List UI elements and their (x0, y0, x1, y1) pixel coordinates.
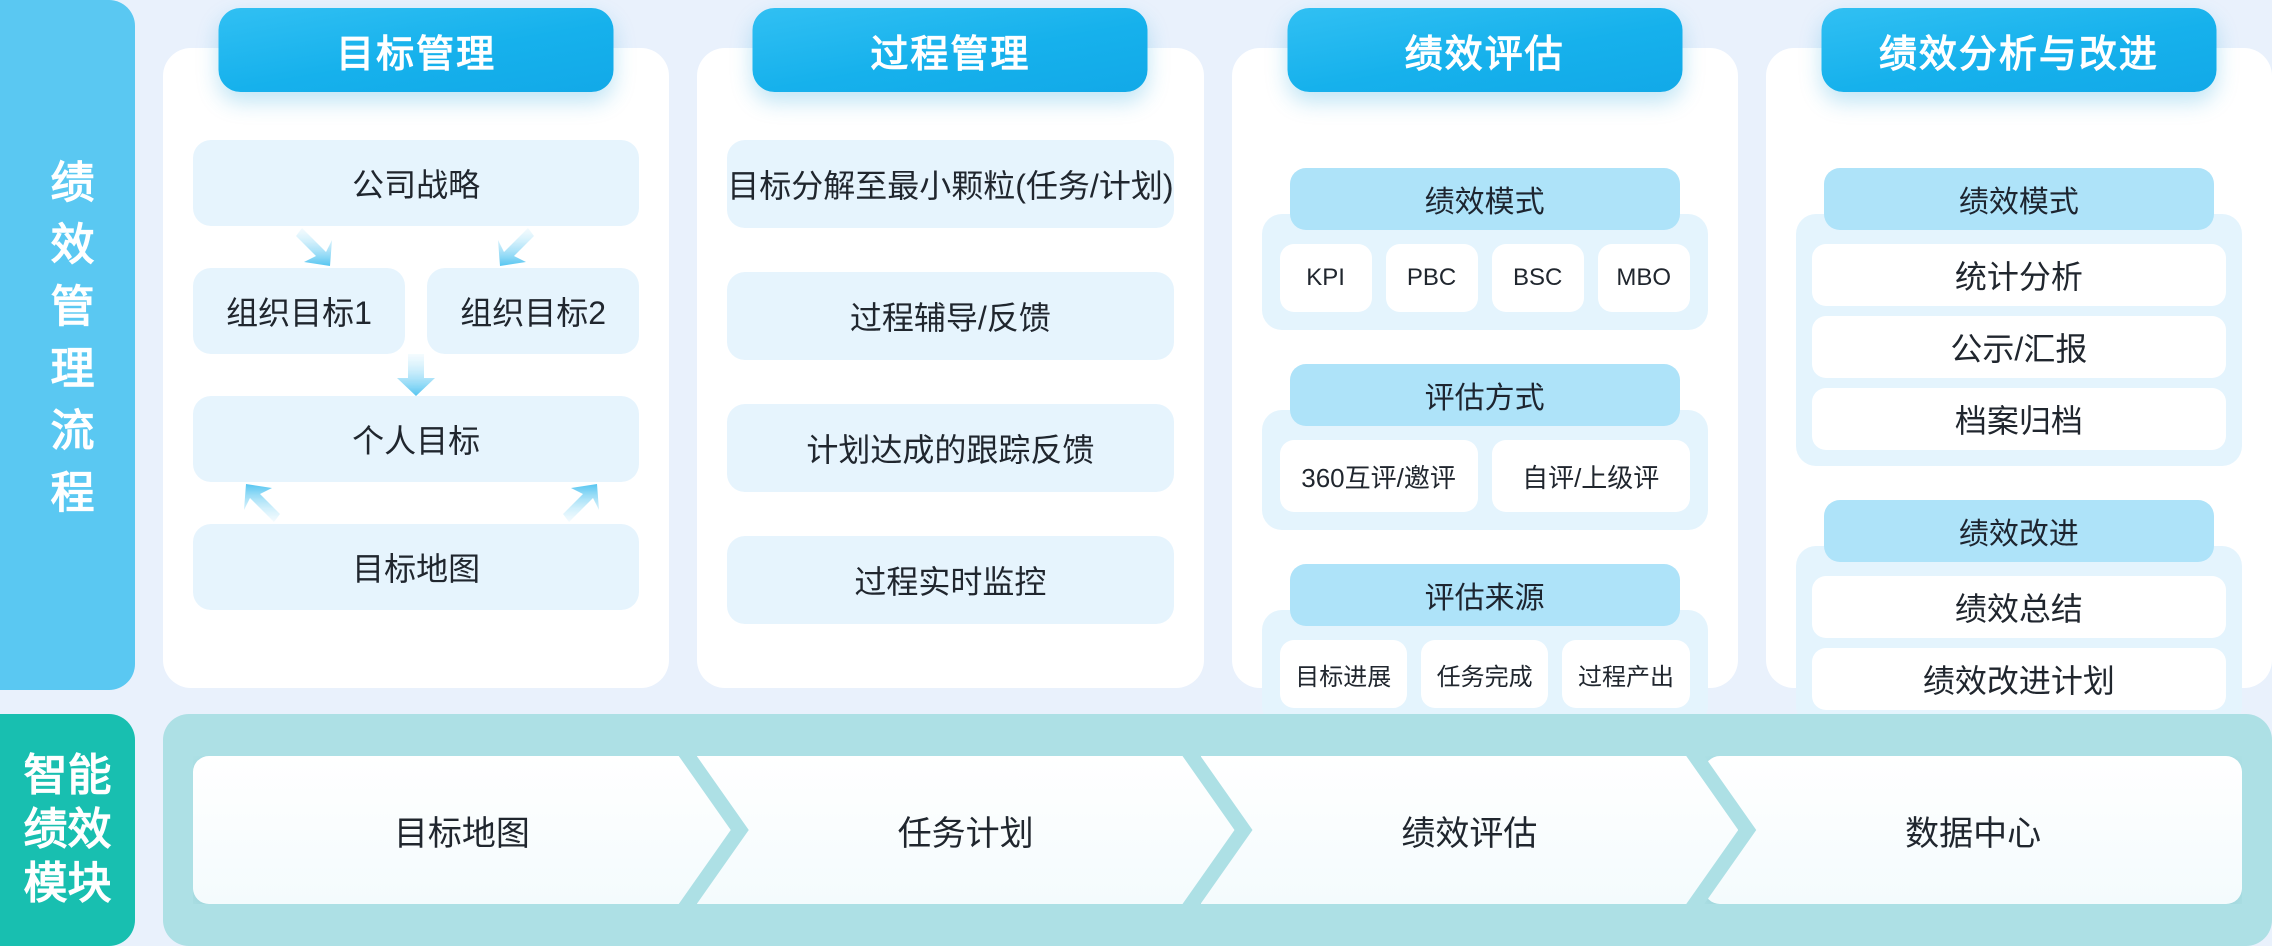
node-company-strategy[interactable]: 公司战略 (193, 140, 639, 226)
stage-title-goal-management: 目标管理 (219, 8, 614, 92)
list-item[interactable]: 任务完成 (1421, 640, 1548, 708)
group-performance-mode: 绩效模式 KPI PBC BSC MBO (1262, 168, 1708, 330)
process-item-list: 目标分解至最小颗粒(任务/计划) 过程辅导/反馈 计划达成的跟踪反馈 过程实时监… (727, 134, 1173, 624)
performance-process-section: 绩效管理流程 目标管理 公司战略 (0, 0, 2272, 690)
flow-step-label: 绩效评估 (1401, 806, 1537, 855)
stage-title-performance-analysis: 绩效分析与改进 (1821, 8, 2216, 92)
list-item[interactable]: 过程产出 (1562, 640, 1689, 708)
group-items: 目标进展 任务完成 过程产出 (1262, 610, 1708, 726)
org-goal-row: 组织目标1 组织目标2 (193, 268, 639, 354)
smart-performance-module-section: 智能 绩效 模块 目标地图 任务计划 绩效评估 数据中心 (0, 714, 2272, 946)
stage-title-performance-evaluation: 绩效评估 (1287, 8, 1682, 92)
list-item[interactable]: KPI (1280, 244, 1372, 312)
goal-flow: 公司战略 (193, 134, 639, 610)
list-item[interactable]: 绩效改进计划 (1812, 648, 2226, 710)
group-title: 评估方式 (1290, 364, 1680, 426)
flow-step-label: 任务计划 (898, 806, 1034, 855)
label-line: 绩效 (24, 803, 112, 857)
list-item[interactable]: 过程实时监控 (727, 536, 1173, 624)
list-item[interactable]: PBC (1386, 244, 1478, 312)
stage-column-process-management[interactable]: 过程管理 目标分解至最小颗粒(任务/计划) 过程辅导/反馈 计划达成的跟踪反馈 … (697, 48, 1203, 688)
group-evaluation-source: 评估来源 目标进展 任务完成 过程产出 (1262, 564, 1708, 726)
group-title: 绩效模式 (1290, 168, 1680, 230)
flow-step-label: 数据中心 (1905, 806, 2041, 855)
list-item[interactable]: 目标分解至最小颗粒(任务/计划) (727, 140, 1173, 228)
list-item[interactable]: 目标进展 (1280, 640, 1407, 708)
arrow-down-icon (397, 354, 435, 396)
group-performance-improvement: 绩效改进 绩效总结 绩效改进计划 (1796, 500, 2242, 726)
group-performance-mode-analysis: 绩效模式 统计分析 公示/汇报 档案归档 (1796, 168, 2242, 466)
arrow-row-merge (193, 354, 639, 396)
stage-column-goal-management[interactable]: 目标管理 公司战略 (163, 48, 669, 688)
group-items: 360互评/邀评 自评/上级评 (1262, 410, 1708, 530)
group-title: 绩效模式 (1824, 168, 2214, 230)
stage-columns: 目标管理 公司战略 (135, 0, 2272, 690)
section-label-smart-module: 智能 绩效 模块 (0, 714, 135, 946)
list-item[interactable]: 360互评/邀评 (1280, 440, 1478, 512)
node-org-goal-2[interactable]: 组织目标2 (427, 268, 639, 354)
node-org-goal-1[interactable]: 组织目标1 (193, 268, 405, 354)
module-flow-bar: 目标地图 任务计划 绩效评估 数据中心 (163, 714, 2272, 946)
list-item[interactable]: 过程辅导/反馈 (727, 272, 1173, 360)
list-item[interactable]: 计划达成的跟踪反馈 (727, 404, 1173, 492)
flow-step-label: 目标地图 (394, 806, 530, 855)
arrow-down-left-icon (296, 226, 334, 268)
flow-step-goal-map[interactable]: 目标地图 (193, 756, 731, 904)
label-line: 智能 (24, 749, 112, 803)
stage-column-performance-analysis[interactable]: 绩效分析与改进 绩效模式 统计分析 公示/汇报 档案归档 绩效改进 绩效总结 绩… (1766, 48, 2272, 688)
list-item[interactable]: 统计分析 (1812, 244, 2226, 306)
stage-title-process-management: 过程管理 (753, 8, 1148, 92)
node-personal-goal[interactable]: 个人目标 (193, 396, 639, 482)
list-item[interactable]: 绩效总结 (1812, 576, 2226, 638)
list-item[interactable]: BSC (1492, 244, 1584, 312)
group-evaluation-method: 评估方式 360互评/邀评 自评/上级评 (1262, 364, 1708, 530)
group-title: 绩效改进 (1824, 500, 2214, 562)
stage-column-performance-evaluation[interactable]: 绩效评估 绩效模式 KPI PBC BSC MBO 评估方式 360互评/邀评 … (1232, 48, 1738, 688)
arrow-up-right-icon (242, 482, 280, 524)
list-item[interactable]: 公示/汇报 (1812, 316, 2226, 378)
node-goal-map[interactable]: 目标地图 (193, 524, 639, 610)
group-title: 评估来源 (1290, 564, 1680, 626)
flow-step-data-center[interactable]: 数据中心 (1704, 756, 2242, 904)
arrow-down-right-icon (496, 226, 534, 268)
group-items: KPI PBC BSC MBO (1262, 214, 1708, 330)
group-items: 绩效总结 绩效改进计划 (1796, 546, 2242, 726)
list-item[interactable]: 自评/上级评 (1492, 440, 1690, 512)
list-item[interactable]: MBO (1598, 244, 1690, 312)
label-line: 模块 (24, 857, 112, 911)
group-items: 统计分析 公示/汇报 档案归档 (1796, 214, 2242, 466)
section-label-performance-process-text: 绩效管理流程 (46, 159, 90, 531)
list-item[interactable]: 档案归档 (1812, 388, 2226, 450)
arrow-row-up (193, 482, 639, 524)
arrow-up-left-icon (563, 482, 601, 524)
flow-step-task-plan[interactable]: 任务计划 (697, 756, 1235, 904)
arrow-row-split (193, 226, 639, 268)
flow-step-performance-evaluation[interactable]: 绩效评估 (1201, 756, 1739, 904)
section-label-performance-process: 绩效管理流程 (0, 0, 135, 690)
section-label-smart-module-text: 智能 绩效 模块 (24, 749, 112, 910)
